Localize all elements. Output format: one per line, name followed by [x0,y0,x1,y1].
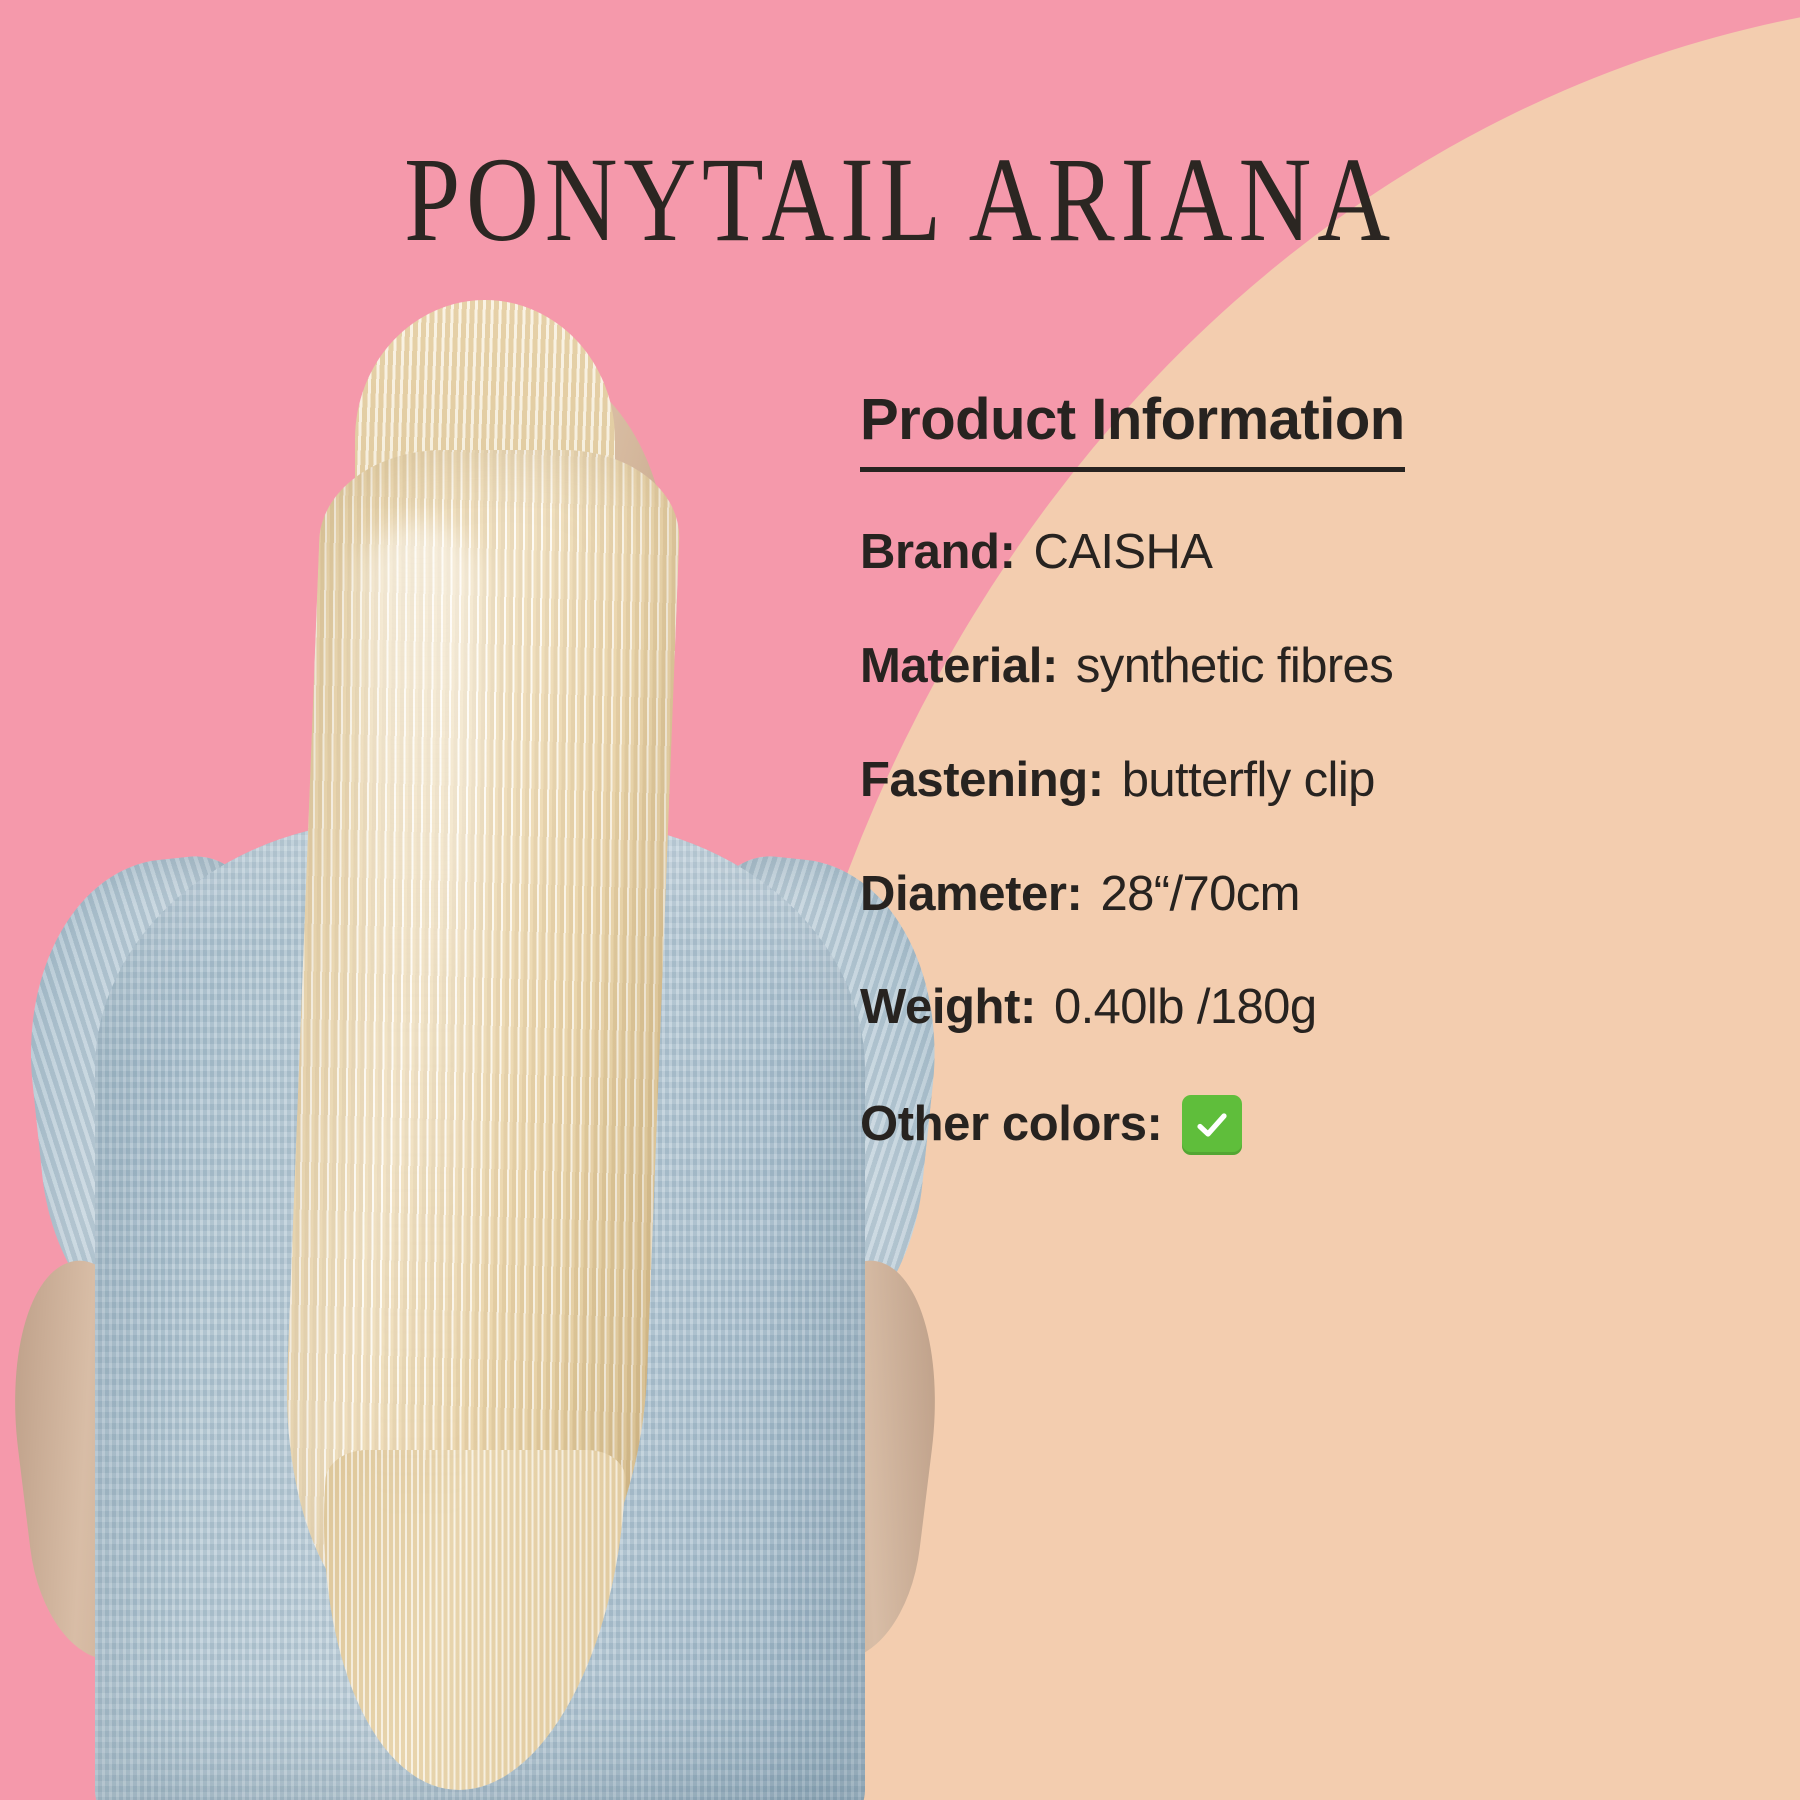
spec-label: Diameter: [860,868,1082,922]
spec-value: 0.40lb /180g [1054,981,1317,1035]
spec-row-diameter: Diameter: 28“/70cm [860,868,1740,922]
spec-label: Fastening: [860,754,1104,808]
spec-value: CAISHA [1034,526,1213,580]
spec-label: Other colors: [860,1098,1162,1152]
spec-row-fastening: Fastening: butterfly clip [860,754,1740,808]
page-title: PONYTAIL ARIANA [27,140,1773,261]
product-photo [0,300,980,1800]
panel-heading: Product Information [860,390,1405,472]
spec-value: synthetic fibres [1076,640,1393,694]
spec-list: Brand: CAISHA Material: synthetic fibres… [860,526,1740,1155]
spec-row-brand: Brand: CAISHA [860,526,1740,580]
spec-label: Material: [860,640,1058,694]
spec-row-weight: Weight: 0.40lb /180g [860,981,1740,1035]
product-information-panel: Product Information Brand: CAISHA Materi… [860,390,1740,1155]
spec-label: Brand: [860,526,1016,580]
spec-row-material: Material: synthetic fibres [860,640,1740,694]
check-mark-button-icon [1182,1095,1242,1155]
spec-value: 28“/70cm [1100,868,1299,922]
product-graphic: PONYTAIL ARIANA Product Information Bran… [0,0,1800,1800]
hair-highlight [360,520,480,1520]
spec-label: Weight: [860,981,1036,1035]
spec-row-other-colors: Other colors: [860,1095,1740,1155]
spec-value: butterfly clip [1122,754,1375,808]
